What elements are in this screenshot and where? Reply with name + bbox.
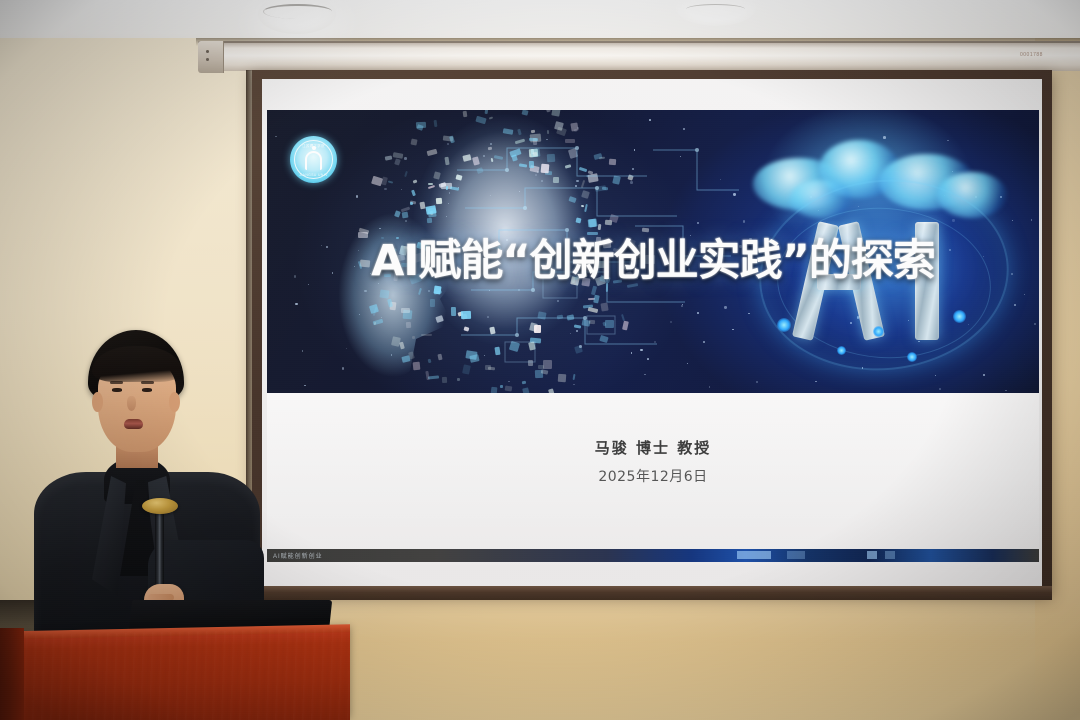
university-seal-logo: 江苏理工学院 JIANGSU UNIV — [290, 136, 337, 183]
screw-icon — [206, 50, 209, 53]
screw-icon — [206, 58, 209, 61]
adjacent-slide-strip-text: AI赋能创新创业 — [273, 551, 323, 560]
slide-date: 2025年12月6日 — [267, 466, 1039, 486]
slide-lower-band: 马骏 博士 教授 2025年12月6日 — [267, 393, 1039, 565]
presenter-eyebrow-left — [110, 381, 123, 384]
slide-title: AI赋能“创新创业实践”的探索 — [267, 240, 1039, 283]
presenter-ear-right — [169, 392, 180, 412]
presenter-ear-left — [92, 392, 103, 412]
roller-serial-label: 0001788 — [1020, 52, 1072, 60]
seal-bottom-text: JIANGSU UNIV — [290, 173, 337, 177]
seal-emblem-icon — [305, 151, 322, 170]
slide-presenter-name: 马骏 博士 教授 — [267, 437, 1039, 458]
presenter-face — [98, 356, 176, 452]
microphone-head-icon[interactable] — [142, 498, 178, 514]
presenter-eyebrow-right — [141, 381, 154, 384]
podium-wood-grain — [0, 628, 350, 720]
presenter-eye-left — [112, 388, 122, 392]
roller-end-cap — [198, 41, 224, 73]
presenter-mouth — [124, 419, 143, 429]
screen-bottom-lip — [252, 586, 1052, 600]
conference-room-scene: 0001788 — [0, 0, 1080, 720]
presenter-nose — [127, 396, 136, 411]
presenter-eye-right — [142, 388, 152, 392]
adjacent-slide-strip: AI赋能创新创业 — [267, 549, 1039, 562]
presentation-slide[interactable]: 江苏理工学院 JIANGSU UNIV AI赋能“创新创业实践”的探索 马骏 博… — [267, 110, 1039, 565]
projector-screen-roller-housing[interactable] — [198, 41, 1080, 71]
podium-side-panel — [0, 628, 24, 720]
slide-hero-image: 江苏理工学院 JIANGSU UNIV AI赋能“创新创业实践”的探索 — [267, 110, 1039, 393]
